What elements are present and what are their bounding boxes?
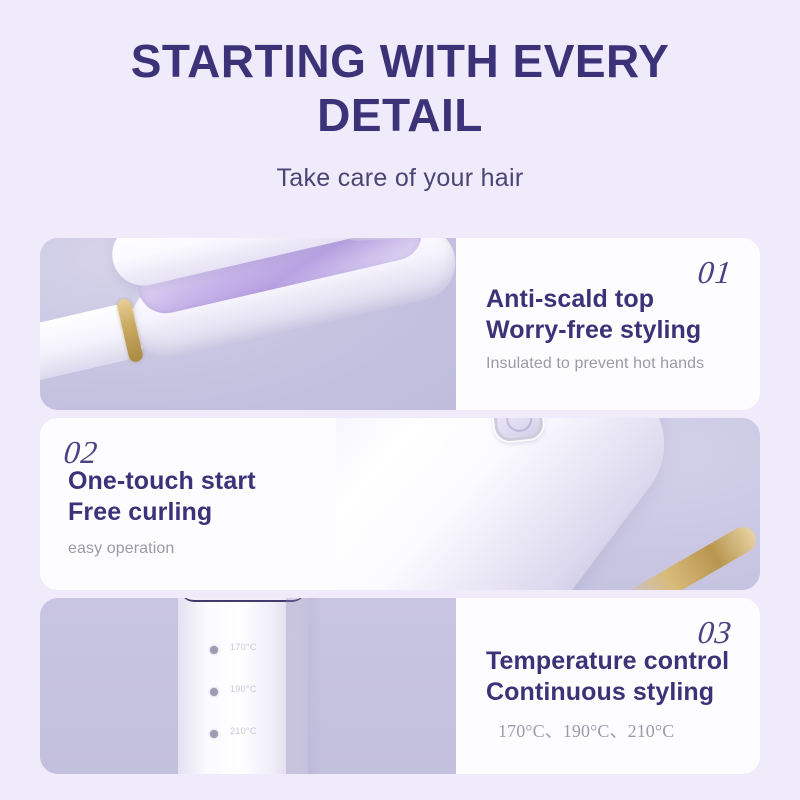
feature-numeral-2: 02 (62, 434, 100, 471)
product-image-1 (40, 238, 456, 410)
feature-heading-1-line2: Worry-free styling (486, 315, 734, 346)
temperature-led-label-1: 170°C (230, 642, 257, 652)
temperature-led-1 (210, 646, 218, 654)
feature-numeral-1: 01 (696, 254, 734, 291)
feature-text-3: 03 Temperature control Continuous stylin… (456, 598, 760, 774)
feature-card-1: 01 Anti-scald top Worry-free styling Ins… (40, 238, 760, 410)
temperature-led-label-3: 210°C (230, 726, 257, 736)
feature-card-3: 170°C 190°C 210°C 03 Temperature control… (40, 598, 760, 774)
temperature-led-label-2: 190°C (230, 684, 257, 694)
header: STARTING WITH EVERY DETAIL Take care of … (0, 0, 800, 193)
feature-heading-2-line1: One-touch start (68, 466, 310, 497)
feature-description-2: easy operation (68, 540, 310, 558)
temperature-led-3 (210, 730, 218, 738)
power-button-icon (492, 418, 545, 442)
feature-list: 01 Anti-scald top Worry-free styling Ins… (40, 238, 760, 774)
feature-description-1: Insulated to prevent hot hands (486, 355, 734, 373)
feature-text-1: 01 Anti-scald top Worry-free styling Ins… (456, 238, 760, 410)
product-image-2 (336, 418, 760, 590)
page-title: STARTING WITH EVERY DETAIL (80, 34, 720, 142)
temperature-led-2 (210, 688, 218, 696)
feature-numeral-3: 03 (696, 614, 734, 651)
feature-description-3: 170°C、190°C、210°C (498, 717, 734, 743)
feature-heading-3-line2: Continuous styling (486, 677, 734, 708)
infographic-page: STARTING WITH EVERY DETAIL Take care of … (0, 0, 800, 800)
feature-text-2: 02 One-touch start Free curling easy ope… (40, 418, 336, 590)
page-subtitle: Take care of your hair (0, 164, 800, 193)
feature-card-2: 02 One-touch start Free curling easy ope… (40, 418, 760, 590)
product-image-3: 170°C 190°C 210°C (40, 598, 456, 774)
feature-heading-2-line2: Free curling (68, 497, 310, 528)
